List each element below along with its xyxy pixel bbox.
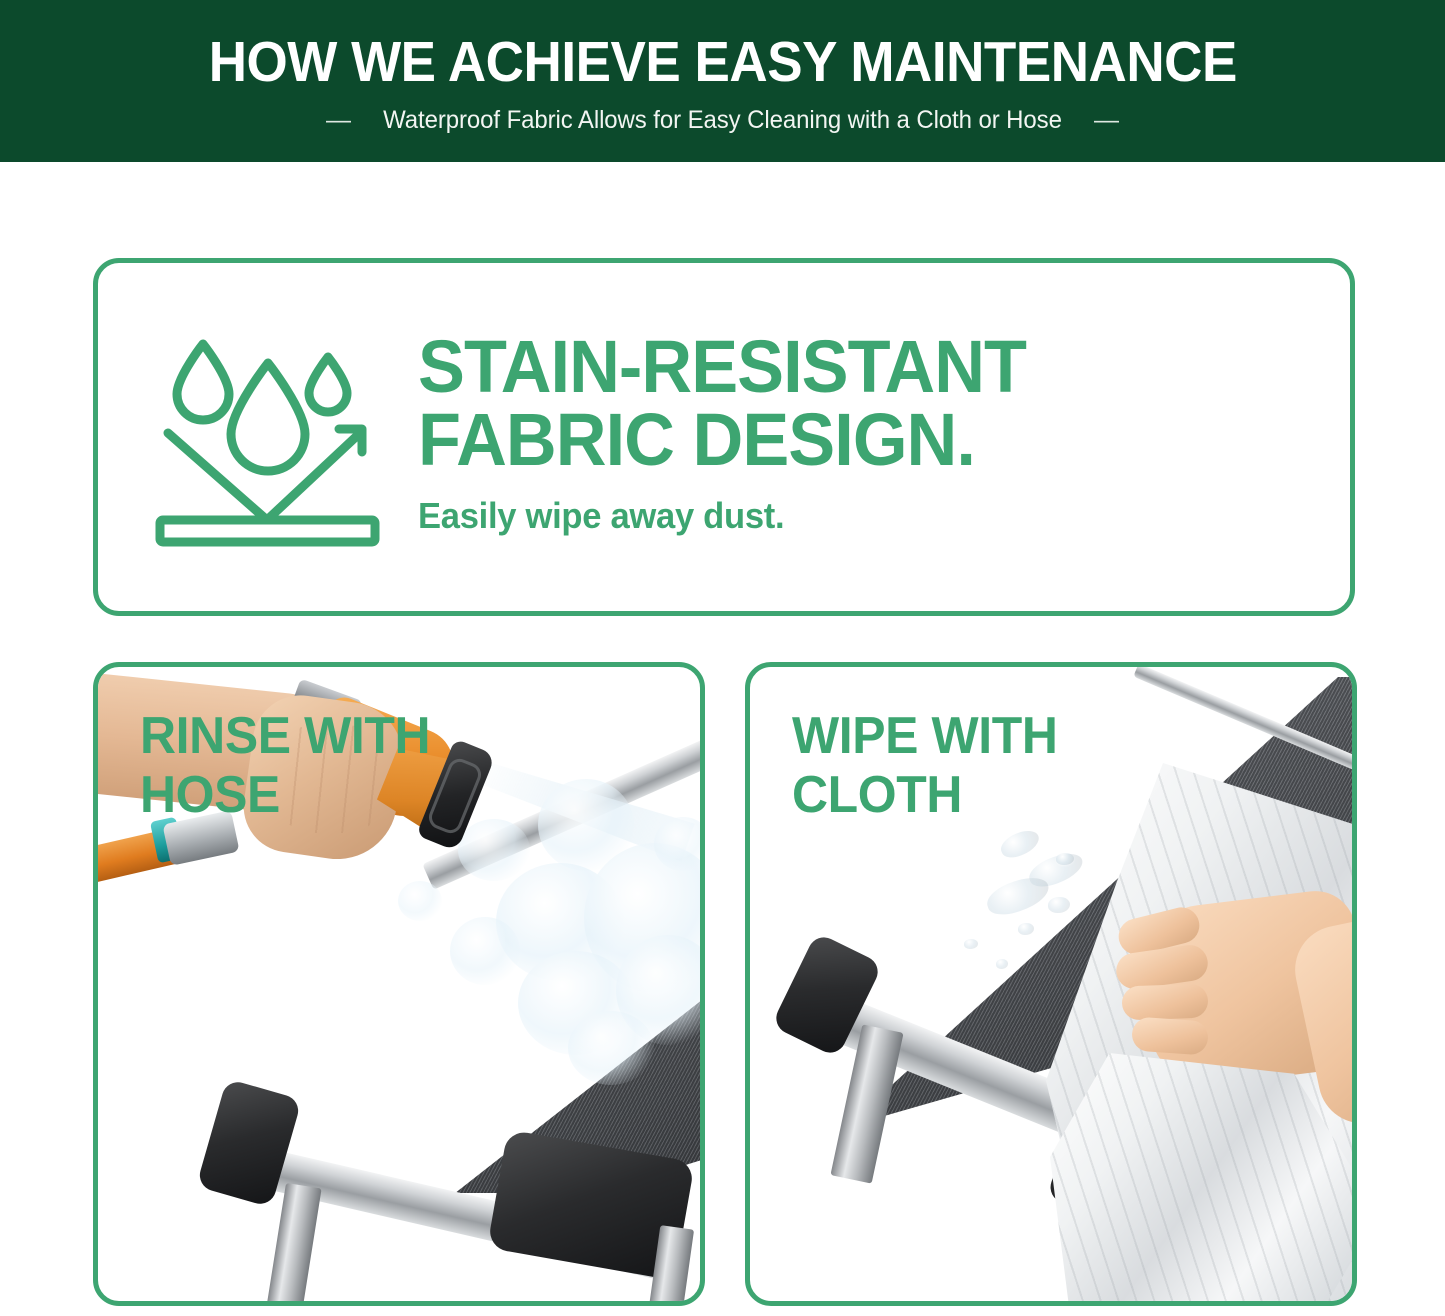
feature-card-content: STAIN-RESISTANT FABRIC DESIGN. Easily wi… (98, 263, 1350, 611)
rinse-card-heading: RINSE WITH HOSE (140, 707, 430, 826)
wipe-card-heading: WIPE WITH CLOTH (792, 707, 1058, 826)
rinse-with-hose-card: RINSE WITH HOSE (93, 662, 705, 1306)
page-subtitle: Waterproof Fabric Allows for Easy Cleani… (383, 106, 1062, 135)
dash-left-icon: — (326, 108, 351, 133)
page-title: HOW WE ACHIEVE EASY MAINTENANCE (208, 33, 1236, 91)
water-splash (450, 917, 520, 985)
water-droplet (983, 872, 1053, 920)
wipe-with-cloth-card: WIPE WITH CLOTH (745, 662, 1357, 1306)
water-droplet (1018, 923, 1034, 935)
water-droplet (964, 939, 978, 949)
finger (1121, 984, 1208, 1021)
feature-subheading: Easily wipe away dust. (418, 495, 1313, 537)
water-splash (568, 1011, 654, 1085)
water-droplet (996, 959, 1008, 969)
finger (1131, 1016, 1209, 1055)
feature-card-stain-resistant: STAIN-RESISTANT FABRIC DESIGN. Easily wi… (93, 258, 1355, 616)
feature-heading-line1: STAIN-RESISTANT (418, 331, 1303, 404)
infographic-page: HOW WE ACHIEVE EASY MAINTENANCE — Waterp… (0, 0, 1445, 1316)
water-splash (458, 819, 530, 881)
subtitle-row: — Waterproof Fabric Allows for Easy Clea… (326, 106, 1119, 135)
water-repellent-droplets-icon (146, 324, 394, 556)
header-banner: HOW WE ACHIEVE EASY MAINTENANCE — Waterp… (0, 0, 1445, 162)
feature-text-block: STAIN-RESISTANT FABRIC DESIGN. Easily wi… (418, 331, 1350, 542)
feature-heading-line2: FABRIC DESIGN. (418, 404, 1303, 477)
water-droplet (997, 826, 1042, 861)
dash-right-icon: — (1094, 108, 1119, 133)
water-splash (398, 881, 442, 921)
cot-leg-left (266, 1183, 321, 1301)
water-droplet (1048, 897, 1070, 913)
